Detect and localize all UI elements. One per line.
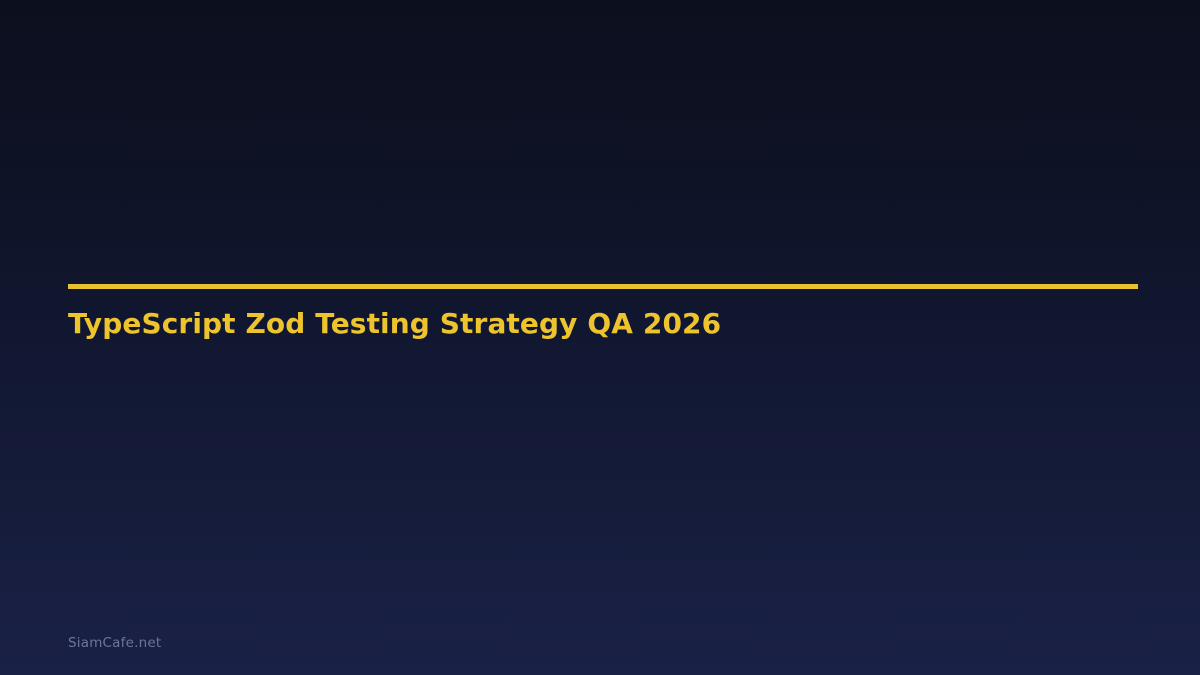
footer-brand-label: SiamCafe.net bbox=[68, 635, 161, 651]
page-title: TypeScript Zod Testing Strategy QA 2026 bbox=[68, 289, 1138, 341]
title-block: TypeScript Zod Testing Strategy QA 2026 bbox=[68, 284, 1138, 341]
title-slide: TypeScript Zod Testing Strategy QA 2026 … bbox=[0, 0, 1200, 675]
footer: SiamCafe.net bbox=[68, 632, 161, 651]
